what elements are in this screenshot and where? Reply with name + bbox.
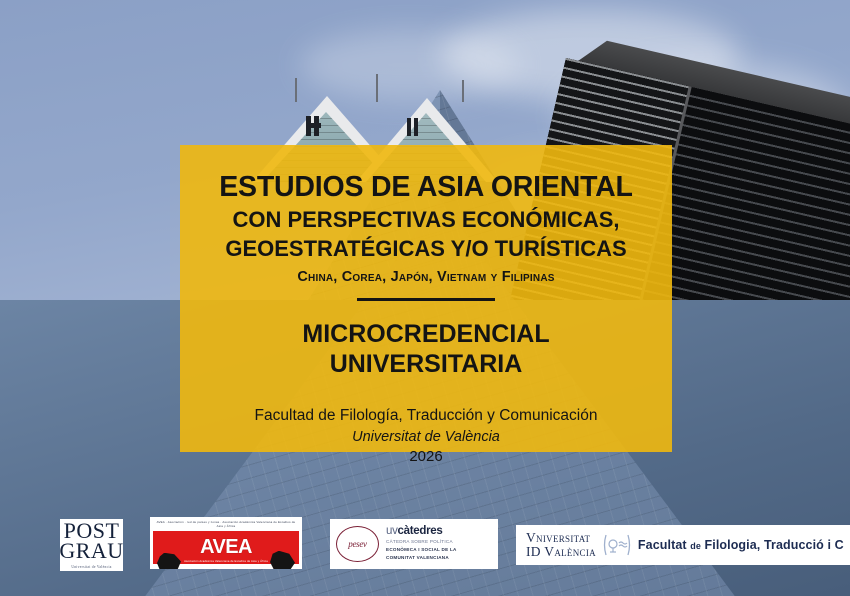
logo-postgrau: POST GRAU Universitat de València <box>60 519 123 571</box>
faculty-text: acultat <box>646 538 691 552</box>
faculty-rest: Filologia, Traducció i C <box>701 538 844 552</box>
faculty-de: de <box>690 541 701 551</box>
cloud <box>300 30 520 100</box>
uv-line1: Vniversitat <box>526 531 596 545</box>
avea-wordmark: AVEA <box>200 536 252 559</box>
catedres-wordmark: uvcàtedres <box>386 526 457 538</box>
panel-countries: China, Corea, Japón, Vietnam y Filipinas <box>180 269 672 285</box>
credential-line1: MICROCREDENCIAL <box>180 319 672 350</box>
faculty-wordmark: Facultat de Filologia, Traducció i C <box>638 538 844 552</box>
avea-caption: Asociación Académica Valenciana de Estud… <box>153 560 299 563</box>
logo-avea: AVEA · Asociación · red de países y zona… <box>150 517 302 569</box>
title-panel: ESTUDIOS DE ASIA ORIENTAL CON PERSPECTIV… <box>180 145 672 452</box>
pesev-seal-icon: pesev <box>336 526 379 562</box>
catedres-line3: COMUNITAT VALENCIANA <box>386 555 457 562</box>
pesev-label: pesev <box>348 539 367 549</box>
facade-mark <box>407 118 411 136</box>
faculty-name: Facultad de Filología, Traducción y Comu… <box>180 406 672 427</box>
poster: ESTUDIOS DE ASIA ORIENTAL CON PERSPECTIV… <box>0 0 850 596</box>
logo-universitat-valencia: Vniversitat ID València Facultat de Filo… <box>516 525 850 565</box>
catedres-prefix: uv <box>386 525 398 537</box>
panel-subtitle-line2: GEOESTRATÉGICAS Y/O TURÍSTICAS <box>196 237 656 262</box>
panel-title: ESTUDIOS DE ASIA ORIENTAL <box>180 173 672 203</box>
credential-line2: UNIVERSITARIA <box>180 349 672 380</box>
avea-header-text: AVEA · Asociación · red de países y zona… <box>153 519 299 531</box>
avea-red-bar: AVEA Asociación Académica Valenciana de … <box>153 531 299 564</box>
facade-mark <box>414 118 418 136</box>
facade-mark <box>311 123 321 128</box>
postgrau-line2: GRAU <box>60 541 123 561</box>
university-name: Universitat de València <box>180 429 672 445</box>
uv-wordmark: Vniversitat ID València <box>526 531 596 559</box>
catedres-line1: CÀTEDRA SOBRE POLÍTICA <box>386 539 457 546</box>
faculty-prefix: F <box>638 538 646 552</box>
year: 2026 <box>180 448 672 465</box>
antenna <box>376 74 378 102</box>
uv-line2: ID València <box>526 545 596 559</box>
catedres-line2: ECONÒMICA I SOCIAL DE LA <box>386 547 457 554</box>
panel-divider <box>357 298 495 301</box>
antenna <box>295 78 297 102</box>
logo-uvcatedres: pesev uvcàtedres CÀTEDRA SOBRE POLÍTICA … <box>330 519 498 569</box>
catedres-main: càtedres <box>398 525 443 537</box>
uv-seal-icon <box>602 531 632 559</box>
catedres-text-block: uvcàtedres CÀTEDRA SOBRE POLÍTICA ECONÒM… <box>386 526 457 561</box>
panel-subtitle-line1: CON PERSPECTIVAS ECONÓMICAS, <box>196 208 656 233</box>
antenna <box>462 80 464 102</box>
postgrau-subtitle: Universitat de València <box>71 565 111 569</box>
